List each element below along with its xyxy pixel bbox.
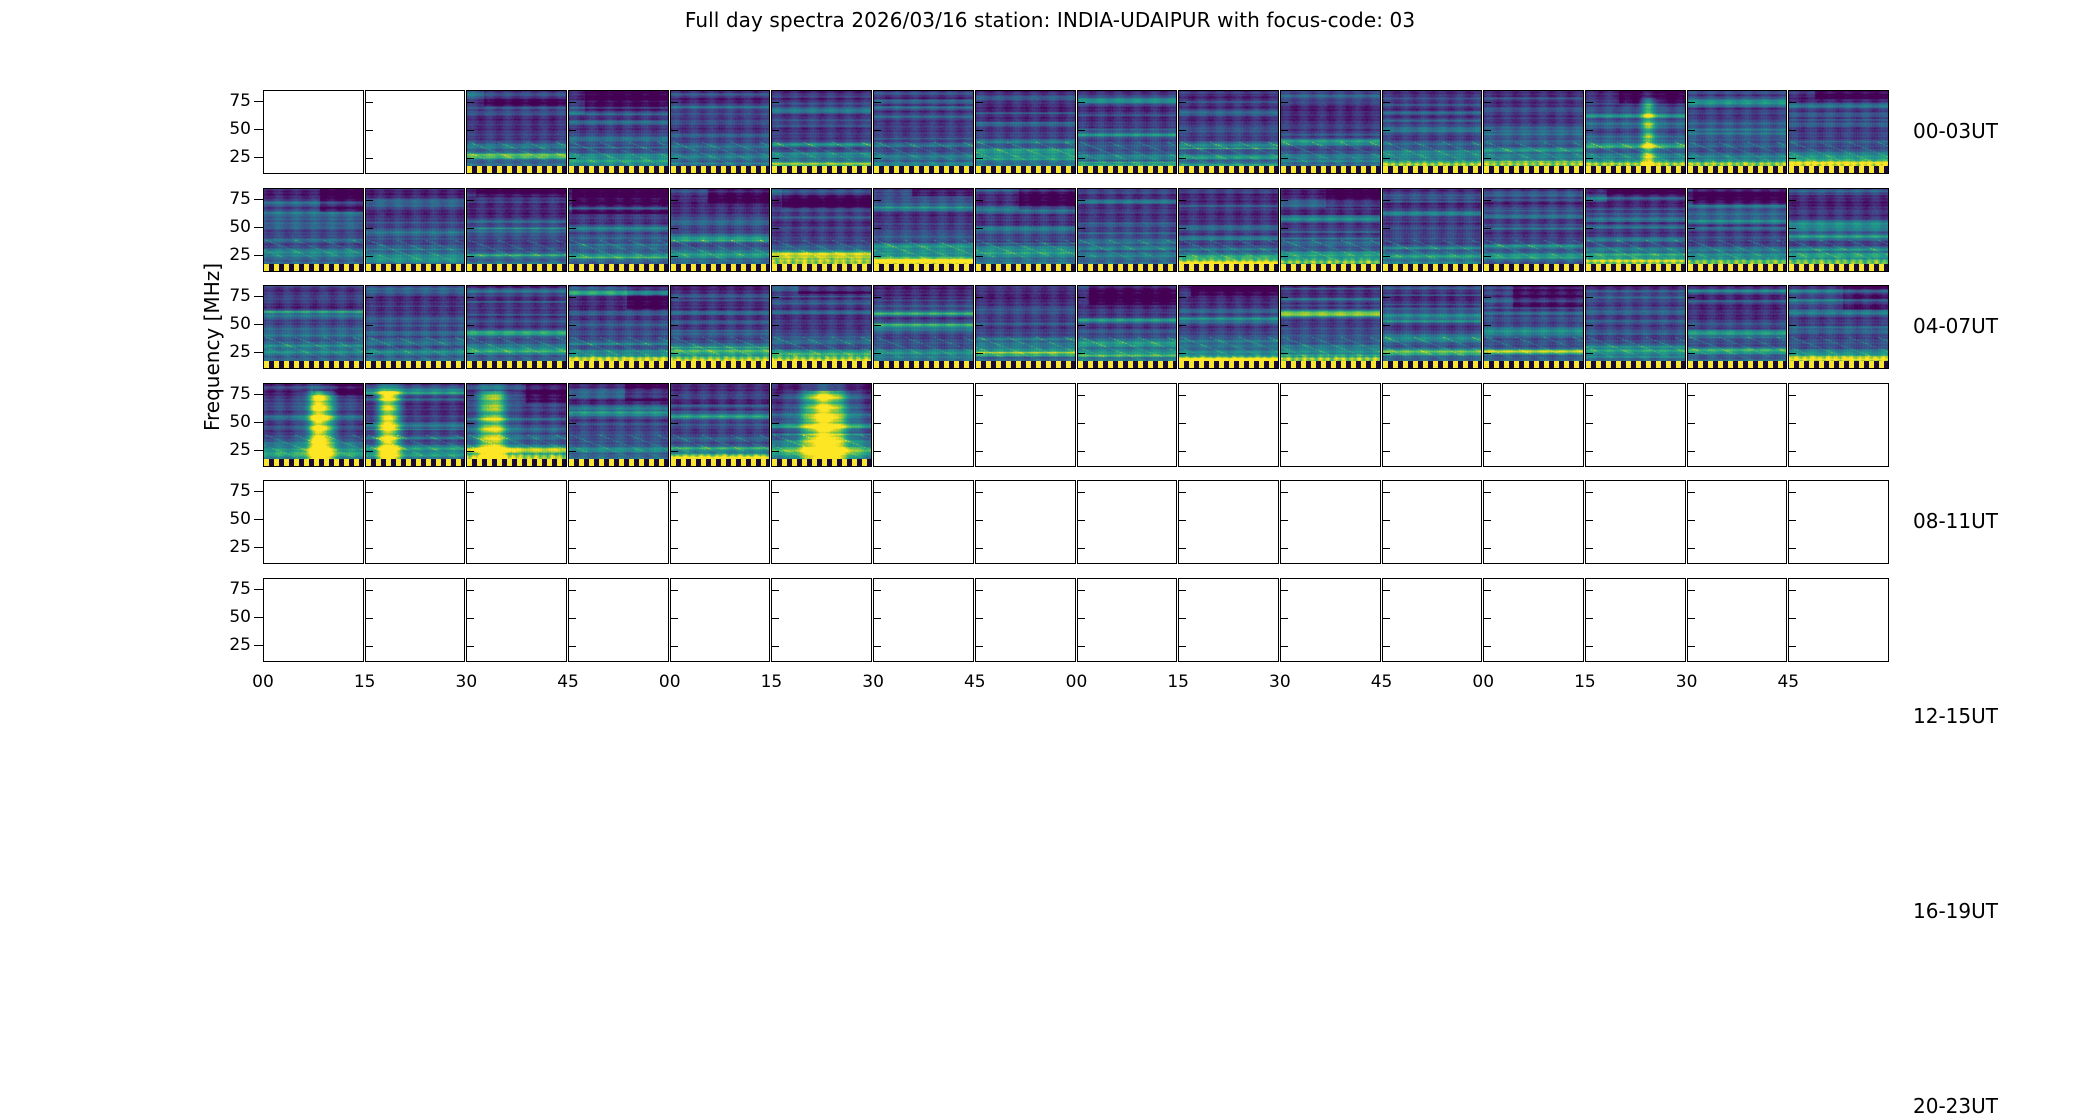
spectrogram-panel[interactable]	[771, 90, 872, 174]
spectrogram-panel[interactable]	[1788, 188, 1889, 272]
spectrogram-panel[interactable]	[1687, 480, 1788, 564]
y-tick-mark-inner	[1281, 353, 1288, 354]
y-tick-mark-inner	[1383, 256, 1390, 257]
y-tick-mark-inner	[1586, 158, 1593, 159]
spectrogram-panel[interactable]	[1585, 188, 1686, 272]
subplot-row: 75502500-03UT	[263, 90, 1890, 174]
spectrogram-panel[interactable]	[1178, 90, 1279, 174]
y-tick-mark-inner	[1484, 618, 1491, 619]
marker-strip	[467, 166, 566, 173]
y-tick-mark-inner	[1383, 297, 1390, 298]
y-tick-mark-inner	[1281, 492, 1288, 493]
y-tick-mark-inner	[1281, 200, 1288, 201]
y-tick-mark-inner	[1789, 618, 1796, 619]
y-tick-mark-inner	[1688, 158, 1695, 159]
spectrogram-image	[1688, 189, 1788, 272]
y-tick-mark	[254, 227, 263, 228]
y-tick-mark-inner	[874, 492, 881, 493]
y-tick-mark-inner	[1078, 325, 1085, 326]
x-tick-label: 45	[964, 672, 986, 692]
y-tick-mark-inner	[1688, 228, 1695, 229]
spectrogram-panel[interactable]	[1077, 285, 1178, 369]
spectrogram-panel[interactable]	[365, 90, 466, 174]
spectrogram-panel[interactable]	[1280, 480, 1381, 564]
spectrogram-panel[interactable]	[1077, 90, 1178, 174]
spectrogram-panel[interactable]	[568, 188, 669, 272]
x-tick-label: 45	[557, 672, 579, 692]
y-tick-mark-inner	[772, 451, 779, 452]
spectrogram-panel[interactable]	[263, 480, 364, 564]
spectrogram-panel[interactable]	[873, 90, 974, 174]
y-tick-mark-inner	[1383, 353, 1390, 354]
y-tick-mark-inner	[1484, 130, 1491, 131]
spectrogram-panel[interactable]	[1280, 285, 1381, 369]
spectrogram-panel[interactable]	[1280, 578, 1381, 662]
y-tick-mark-inner	[1586, 200, 1593, 201]
y-tick-mark-inner	[1789, 325, 1796, 326]
spectrogram-image	[976, 189, 1076, 272]
x-tick-label: 30	[456, 672, 478, 692]
y-tick-mark-inner	[1586, 520, 1593, 521]
x-tick-label: 30	[862, 672, 884, 692]
y-tick-mark-inner	[874, 590, 881, 591]
y-tick-mark-inner	[1281, 646, 1288, 647]
y-tick-mark-inner	[874, 451, 881, 452]
y-tick-mark-inner	[1789, 297, 1796, 298]
spectrogram-image	[1281, 286, 1381, 369]
spectrogram-panel[interactable]	[1585, 480, 1686, 564]
y-tick-mark-inner	[1789, 423, 1796, 424]
y-tick-mark-inner	[874, 325, 881, 326]
spectrogram-panel[interactable]	[263, 285, 364, 369]
spectrogram-image	[1688, 286, 1788, 369]
y-tick-mark-inner	[671, 395, 678, 396]
spectrogram-panel[interactable]	[263, 188, 364, 272]
spectrogram-image	[569, 384, 669, 467]
y-tick-mark-inner	[1688, 520, 1695, 521]
y-tick-mark-inner	[976, 102, 983, 103]
y-tick-label: 75	[211, 579, 251, 599]
spectrogram-panel[interactable]	[1585, 90, 1686, 174]
y-tick-mark-inner	[772, 548, 779, 549]
spectrogram-panel[interactable]	[1280, 90, 1381, 174]
x-tick-label: 00	[1472, 672, 1494, 692]
marker-strip	[366, 459, 465, 466]
y-tick-mark-inner	[1383, 423, 1390, 424]
spectrogram-image	[1586, 286, 1686, 369]
spectrogram-panel[interactable]	[1178, 480, 1279, 564]
y-tick-mark-inner	[569, 618, 576, 619]
y-tick-mark-inner	[1484, 520, 1491, 521]
y-tick-mark-inner	[467, 228, 474, 229]
y-tick-mark-inner	[874, 200, 881, 201]
x-tick-mark	[467, 661, 468, 662]
x-tick-mark	[1383, 661, 1384, 662]
spectrogram-image	[1281, 189, 1381, 272]
y-tick-mark	[254, 394, 263, 395]
spectrogram-panel[interactable]	[1077, 480, 1178, 564]
spectrogram-panel[interactable]	[771, 285, 872, 369]
y-tick-mark-inner	[366, 200, 373, 201]
y-tick-mark-inner	[467, 256, 474, 257]
spectrogram-image	[671, 189, 771, 272]
y-tick-mark-inner	[569, 646, 576, 647]
y-tick-mark-inner	[1688, 297, 1695, 298]
x-tick-mark	[671, 661, 672, 662]
spectrogram-panel[interactable]	[466, 188, 567, 272]
y-tick-label: 75	[211, 384, 251, 404]
y-tick-mark	[254, 255, 263, 256]
spectrogram-panel[interactable]	[466, 578, 567, 662]
spectrogram-image	[366, 384, 466, 467]
y-tick-mark-inner	[1179, 325, 1186, 326]
y-tick-mark-inner	[569, 492, 576, 493]
y-tick-mark-inner	[1281, 590, 1288, 591]
spectrogram-panel[interactable]	[1077, 383, 1178, 467]
spectrogram-panel[interactable]	[466, 480, 567, 564]
x-tick-label: 30	[1676, 672, 1698, 692]
spectrogram-panel[interactable]	[1788, 578, 1889, 662]
spectrogram-panel[interactable]	[1382, 188, 1483, 272]
y-tick-mark-inner	[1789, 646, 1796, 647]
y-tick-mark-inner	[1383, 395, 1390, 396]
spectrogram-panel[interactable]	[365, 480, 466, 564]
spectrogram-panel[interactable]	[1483, 188, 1584, 272]
x-tick-mark	[1789, 661, 1790, 662]
y-tick-mark-inner	[976, 520, 983, 521]
y-tick-mark-inner	[1586, 102, 1593, 103]
y-tick-mark-inner	[1383, 618, 1390, 619]
y-tick-mark	[254, 199, 263, 200]
spectrogram-panel[interactable]	[670, 285, 771, 369]
y-tick-mark-inner	[1484, 228, 1491, 229]
y-tick-mark-inner	[1586, 590, 1593, 591]
marker-strip	[874, 264, 973, 271]
spectrogram-panel[interactable]	[1280, 188, 1381, 272]
y-tick-mark-inner	[976, 618, 983, 619]
y-tick-mark-inner	[1789, 102, 1796, 103]
y-tick-mark-inner	[772, 353, 779, 354]
marker-strip	[264, 264, 363, 271]
y-tick-mark-inner	[1484, 200, 1491, 201]
marker-strip	[1383, 361, 1482, 368]
y-tick-mark	[254, 157, 263, 158]
spectrogram-panel[interactable]	[1687, 383, 1788, 467]
y-tick-mark-inner	[1383, 102, 1390, 103]
y-tick-mark-inner	[1484, 646, 1491, 647]
y-tick-mark-inner	[671, 451, 678, 452]
spectrogram-panel[interactable]	[1178, 578, 1279, 662]
y-tick-mark-inner	[874, 423, 881, 424]
marker-strip	[1179, 166, 1278, 173]
spectrogram-image	[772, 91, 872, 174]
y-tick-mark-inner	[366, 395, 373, 396]
spectrogram-panel[interactable]	[1687, 90, 1788, 174]
spectrogram-panel[interactable]	[365, 285, 466, 369]
marker-strip	[1281, 264, 1380, 271]
y-tick-label: 50	[211, 607, 251, 627]
spectrogram-panel[interactable]	[1585, 285, 1686, 369]
row-label-16-19ut: 16-19UT	[1913, 899, 1998, 923]
y-tick-mark-inner	[467, 325, 474, 326]
y-tick-mark-inner	[1484, 353, 1491, 354]
y-tick-mark-inner	[366, 130, 373, 131]
y-tick-mark-inner	[976, 395, 983, 396]
y-tick-mark-inner	[874, 520, 881, 521]
spectrogram-panel[interactable]	[365, 578, 466, 662]
spectrogram-image	[467, 384, 567, 467]
spectrogram-panel[interactable]	[568, 383, 669, 467]
y-tick-mark-inner	[1484, 492, 1491, 493]
spectrogram-panel[interactable]	[1483, 285, 1584, 369]
spectrogram-panel[interactable]	[873, 188, 974, 272]
spectrogram-panel[interactable]	[365, 188, 466, 272]
y-tick-mark-inner	[1281, 423, 1288, 424]
y-tick-mark-inner	[1586, 618, 1593, 619]
spectrogram-image	[1383, 286, 1483, 369]
y-tick-mark-inner	[1281, 325, 1288, 326]
marker-strip	[1484, 166, 1583, 173]
y-tick-mark-inner	[1179, 548, 1186, 549]
y-tick-mark-inner	[772, 200, 779, 201]
y-tick-mark-inner	[976, 423, 983, 424]
y-tick-mark-inner	[1383, 520, 1390, 521]
y-tick-mark-inner	[569, 395, 576, 396]
spectrogram-panel[interactable]	[1788, 383, 1889, 467]
y-tick-mark-inner	[1484, 325, 1491, 326]
y-tick-mark-inner	[1179, 395, 1186, 396]
x-tick-mark	[264, 661, 265, 662]
y-tick-mark-inner	[1688, 353, 1695, 354]
y-tick-mark-inner	[671, 130, 678, 131]
y-tick-mark-inner	[1383, 325, 1390, 326]
y-tick-mark-inner	[671, 158, 678, 159]
spectrogram-panel[interactable]	[975, 578, 1076, 662]
row-label-12-15ut: 12-15UT	[1913, 704, 1998, 728]
y-tick-mark-inner	[1586, 423, 1593, 424]
spectrogram-panel[interactable]	[365, 383, 466, 467]
spectrogram-image	[1281, 91, 1381, 174]
y-tick-mark-inner	[1688, 102, 1695, 103]
spectrogram-panel[interactable]	[670, 188, 771, 272]
y-tick-label: 50	[211, 217, 251, 237]
spectrogram-panel[interactable]	[1483, 480, 1584, 564]
spectrogram-panel[interactable]	[466, 285, 567, 369]
y-tick-mark-inner	[1179, 618, 1186, 619]
y-tick-label: 25	[211, 147, 251, 167]
spectrogram-panel[interactable]	[568, 285, 669, 369]
marker-strip	[264, 361, 363, 368]
y-tick-mark-inner	[366, 492, 373, 493]
spectrogram-panel[interactable]	[873, 285, 974, 369]
spectrogram-panel[interactable]	[1483, 578, 1584, 662]
spectrogram-panel[interactable]	[670, 480, 771, 564]
spectrogram-panel[interactable]	[975, 188, 1076, 272]
marker-strip	[1383, 264, 1482, 271]
spectrogram-panel[interactable]	[975, 285, 1076, 369]
y-tick-mark-inner	[1281, 130, 1288, 131]
y-tick-mark-inner	[366, 228, 373, 229]
y-tick-mark-inner	[671, 548, 678, 549]
spectrogram-image	[874, 189, 974, 272]
spectrogram-panel[interactable]	[1788, 90, 1889, 174]
y-tick-mark-inner	[1078, 492, 1085, 493]
spectrogram-panel[interactable]	[873, 383, 974, 467]
y-tick-mark	[254, 352, 263, 353]
y-tick-mark-inner	[569, 451, 576, 452]
spectrogram-panel[interactable]	[568, 578, 669, 662]
spectrogram-panel[interactable]	[1382, 480, 1483, 564]
spectrogram-panel[interactable]	[975, 383, 1076, 467]
spectrogram-panel[interactable]	[771, 188, 872, 272]
y-tick-label: 25	[211, 342, 251, 362]
marker-strip	[1586, 166, 1685, 173]
spectrogram-panel[interactable]	[466, 90, 567, 174]
spectrogram-panel[interactable]	[1687, 578, 1788, 662]
spectrogram-panel[interactable]	[771, 383, 872, 467]
spectrogram-panel[interactable]	[1178, 188, 1279, 272]
spectrogram-panel[interactable]	[1687, 188, 1788, 272]
y-tick-mark-inner	[569, 228, 576, 229]
y-tick-mark-inner	[1078, 102, 1085, 103]
y-tick-mark-inner	[1179, 130, 1186, 131]
spectrogram-panel[interactable]	[263, 383, 364, 467]
y-tick-mark-inner	[772, 618, 779, 619]
y-tick-mark-inner	[1789, 158, 1796, 159]
spectrogram-image	[1789, 91, 1889, 174]
spectrogram-image	[1383, 91, 1483, 174]
spectrogram-panel[interactable]	[670, 578, 771, 662]
y-tick-mark-inner	[1281, 297, 1288, 298]
y-tick-mark-inner	[1383, 130, 1390, 131]
marker-strip	[874, 361, 973, 368]
spectrogram-panel[interactable]	[568, 90, 669, 174]
y-tick-mark-inner	[1789, 228, 1796, 229]
spectrogram-image	[264, 384, 364, 467]
x-tick-label: 30	[1269, 672, 1291, 692]
spectrogram-panel[interactable]	[466, 383, 567, 467]
y-tick-mark-inner	[671, 325, 678, 326]
row-label-20-23ut: 20-23UT	[1913, 1094, 1998, 1118]
spectrogram-panel[interactable]	[1788, 285, 1889, 369]
y-tick-mark-inner	[671, 228, 678, 229]
y-tick-mark-inner	[1688, 130, 1695, 131]
y-tick-mark-inner	[467, 395, 474, 396]
y-tick-mark-inner	[1078, 618, 1085, 619]
spectrogram-panel[interactable]	[1178, 383, 1279, 467]
spectrogram-panel[interactable]	[1687, 285, 1788, 369]
spectrogram-panel[interactable]	[1178, 285, 1279, 369]
marker-strip	[1484, 264, 1583, 271]
y-tick-mark-inner	[874, 256, 881, 257]
spectrogram-panel[interactable]	[1280, 383, 1381, 467]
y-tick-mark-inner	[1586, 548, 1593, 549]
spectrogram-image	[1586, 189, 1686, 272]
y-tick-mark-inner	[874, 646, 881, 647]
spectrogram-panel[interactable]	[1585, 383, 1686, 467]
spectrogram-panel[interactable]	[263, 90, 364, 174]
spectrogram-panel[interactable]	[1483, 383, 1584, 467]
marker-strip	[1179, 264, 1278, 271]
y-tick-mark-inner	[1789, 492, 1796, 493]
spectrogram-panel[interactable]	[975, 90, 1076, 174]
y-tick-mark-inner	[1484, 395, 1491, 396]
spectrogram-panel[interactable]	[670, 383, 771, 467]
x-tick-label: 00	[1066, 672, 1088, 692]
y-tick-mark-inner	[1688, 590, 1695, 591]
y-tick-mark-inner	[1078, 297, 1085, 298]
spectrogram-image	[1586, 91, 1686, 174]
spectrogram-panel[interactable]	[1382, 285, 1483, 369]
y-tick-mark-inner	[671, 256, 678, 257]
figure-title: Full day spectra 2026/03/16 station: IND…	[0, 8, 2100, 32]
spectrogram-panel[interactable]	[1382, 578, 1483, 662]
y-tick-label: 75	[211, 189, 251, 209]
marker-strip	[1789, 166, 1888, 173]
spectrogram-image	[772, 189, 872, 272]
spectrogram-panel[interactable]	[873, 578, 974, 662]
spectrogram-panel[interactable]	[1585, 578, 1686, 662]
spectrogram-panel[interactable]	[1077, 578, 1178, 662]
y-tick-mark-inner	[366, 520, 373, 521]
y-tick-mark-inner	[1789, 451, 1796, 452]
spectrogram-panel[interactable]	[1788, 480, 1889, 564]
spectrogram-panel[interactable]	[1483, 90, 1584, 174]
marker-strip	[772, 459, 871, 466]
y-tick-mark-inner	[1688, 618, 1695, 619]
x-tick-label: 15	[1574, 672, 1596, 692]
spectrogram-panel[interactable]	[873, 480, 974, 564]
spectrogram-panel[interactable]	[1077, 188, 1178, 272]
y-tick-label: 75	[211, 286, 251, 306]
spectrogram-panel[interactable]	[568, 480, 669, 564]
spectrogram-panel[interactable]	[670, 90, 771, 174]
spectrogram-panel[interactable]	[1382, 90, 1483, 174]
x-tick-label: 00	[252, 672, 274, 692]
marker-strip	[1688, 166, 1787, 173]
spectrogram-panel[interactable]	[771, 578, 872, 662]
y-tick-mark-inner	[1078, 200, 1085, 201]
spectrogram-panel[interactable]	[263, 578, 364, 662]
spectrogram-panel[interactable]	[1382, 383, 1483, 467]
y-tick-mark-inner	[1789, 590, 1796, 591]
y-tick-mark-inner	[1179, 520, 1186, 521]
y-tick-mark-inner	[1789, 130, 1796, 131]
y-tick-mark-inner	[772, 228, 779, 229]
subplot-row: 75502512-15UT	[263, 383, 1890, 467]
y-tick-mark-inner	[1281, 102, 1288, 103]
x-tick-label: 45	[1371, 672, 1393, 692]
y-tick-mark-inner	[1179, 200, 1186, 201]
marker-strip	[1789, 361, 1888, 368]
spectrogram-image	[671, 384, 771, 467]
y-tick-mark-inner	[874, 228, 881, 229]
y-tick-mark-inner	[1383, 228, 1390, 229]
y-tick-mark-inner	[467, 297, 474, 298]
subplot-row: 75502520-23UT	[263, 578, 1890, 662]
y-tick-mark-inner	[1688, 256, 1695, 257]
y-tick-mark-inner	[1789, 548, 1796, 549]
spectrogram-image	[1179, 286, 1279, 369]
spectrogram-panel[interactable]	[771, 480, 872, 564]
y-axis-label-container: Frequency [MHz]	[140, 90, 200, 660]
y-tick-mark	[254, 324, 263, 325]
y-tick-mark-inner	[467, 590, 474, 591]
y-tick-mark-inner	[467, 492, 474, 493]
y-tick-mark	[254, 617, 263, 618]
y-tick-label: 50	[211, 509, 251, 529]
spectrogram-panel[interactable]	[975, 480, 1076, 564]
